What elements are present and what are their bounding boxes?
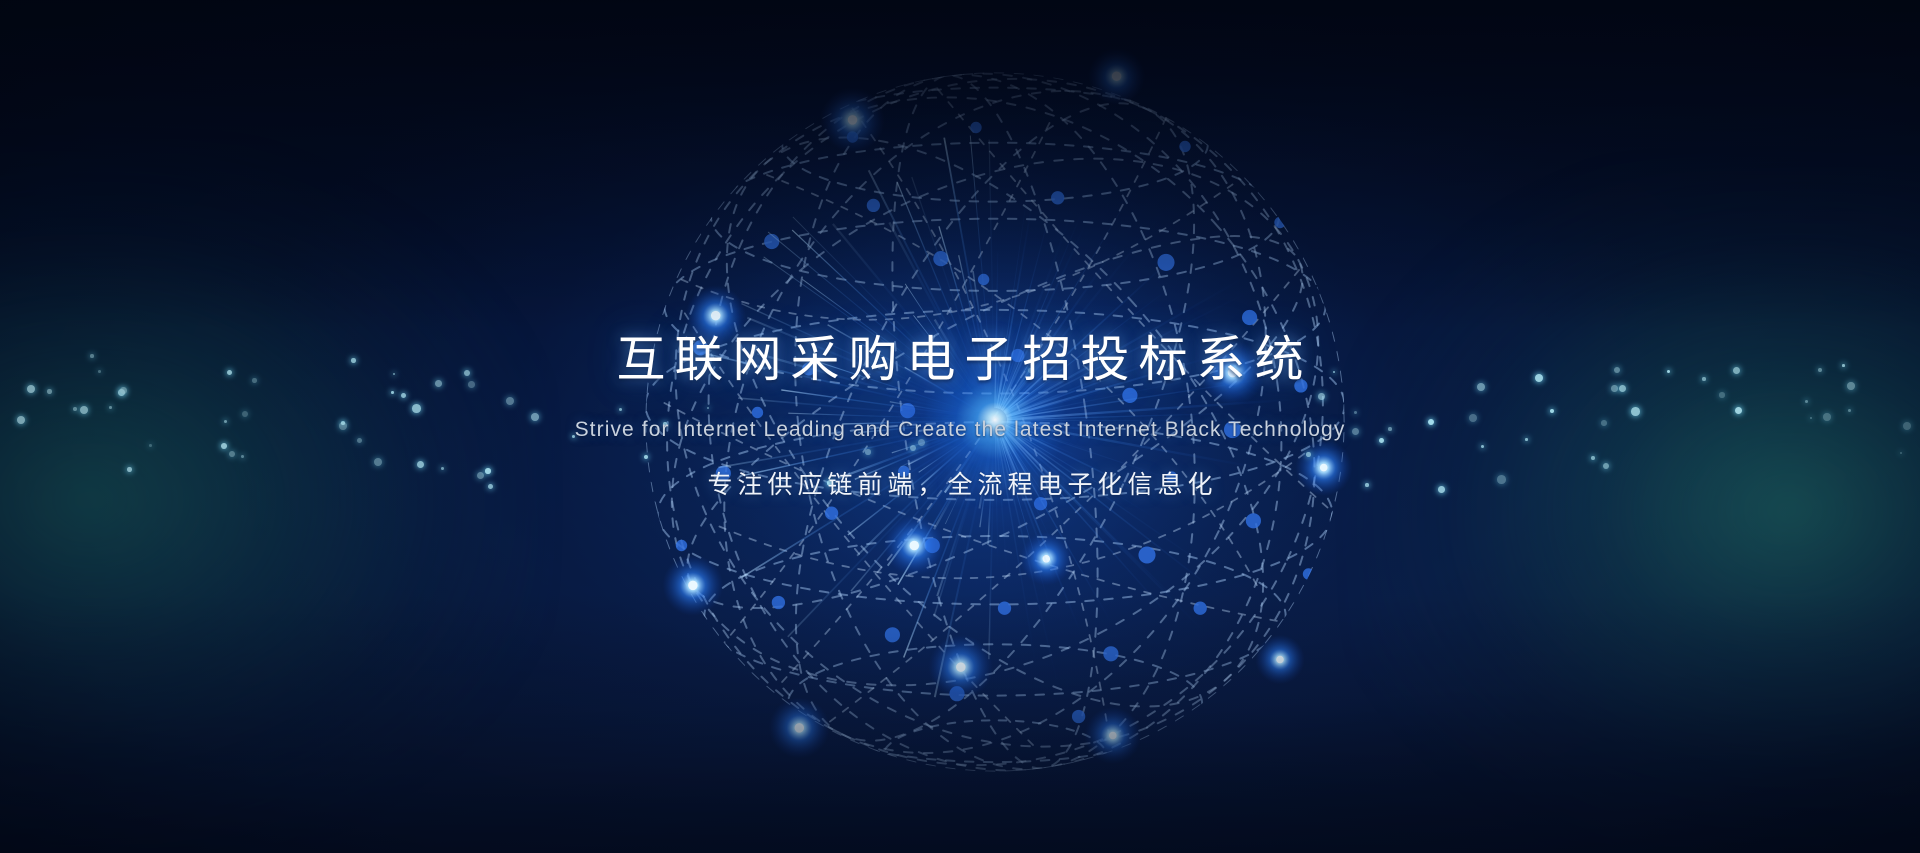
hero-banner: 互联网采购电子招投标系统 Strive for Internet Leading…	[0, 0, 1920, 853]
vignette	[0, 0, 1920, 853]
